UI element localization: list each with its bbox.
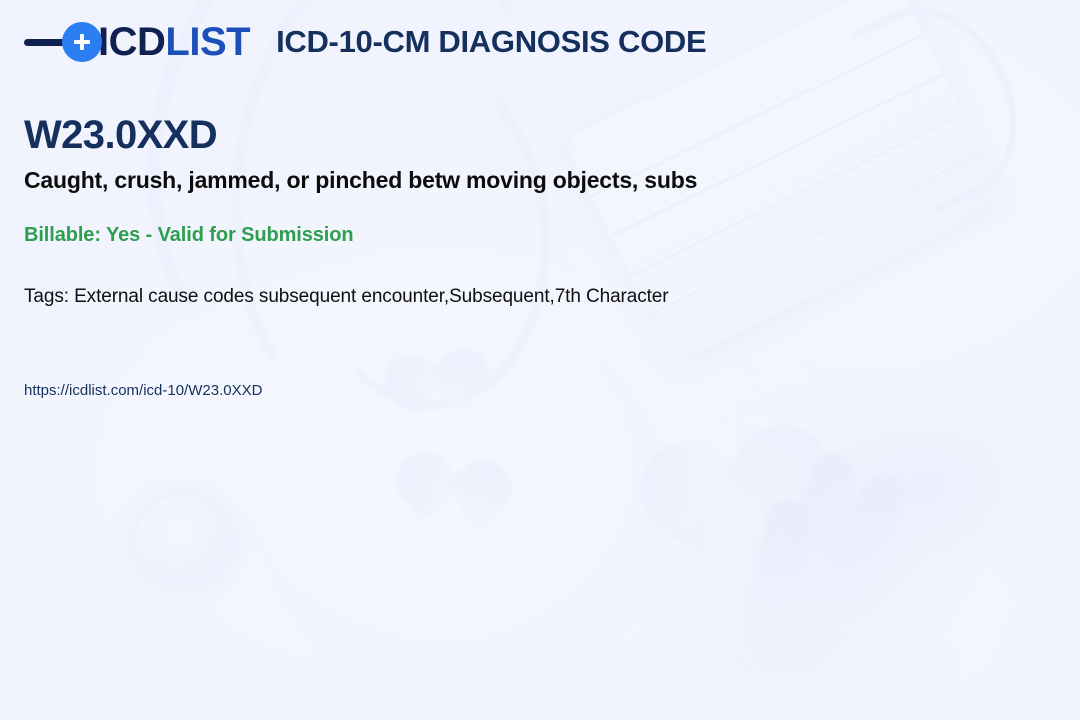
logo-wordmark: ICDLIST <box>98 22 250 62</box>
page-title: ICD-10-CM DIAGNOSIS CODE <box>276 24 706 60</box>
icd-code-card: ICDLIST ICD-10-CM DIAGNOSIS CODE W23.0XX… <box>0 0 1080 720</box>
background-veil <box>0 0 1080 720</box>
paper-heart-icon <box>682 444 793 555</box>
paper-heart-icon <box>409 359 466 416</box>
diagnosis-code: W23.0XXD <box>24 113 217 157</box>
logo-word-icd: ICD <box>98 20 165 64</box>
background-photo <box>0 0 1080 720</box>
dash-icon <box>24 39 66 46</box>
hand-finger-shape <box>779 448 863 586</box>
tags-list: Tags: External cause codes subsequent en… <box>24 286 669 308</box>
background-wash <box>0 0 1080 720</box>
diagnosis-description: Caught, crush, jammed, or pinched betw m… <box>24 166 697 195</box>
hand-finger-shape <box>750 497 813 619</box>
icdlist-logo[interactable]: ICDLIST <box>24 22 250 62</box>
source-url[interactable]: https://icdlist.com/icd-10/W23.0XXD <box>24 382 262 399</box>
stethoscope-chest-piece-icon <box>136 496 234 586</box>
paper-heart-icon <box>420 464 486 530</box>
logo-word-list: LIST <box>165 20 250 64</box>
billable-status: Billable: Yes - Valid for Submission <box>24 224 353 247</box>
header: ICDLIST ICD-10-CM DIAGNOSIS CODE <box>24 22 706 62</box>
background-plate-shape <box>250 300 670 700</box>
plus-badge-icon <box>62 22 102 62</box>
hand-finger-shape <box>823 466 912 594</box>
hand-icon <box>640 430 1020 720</box>
